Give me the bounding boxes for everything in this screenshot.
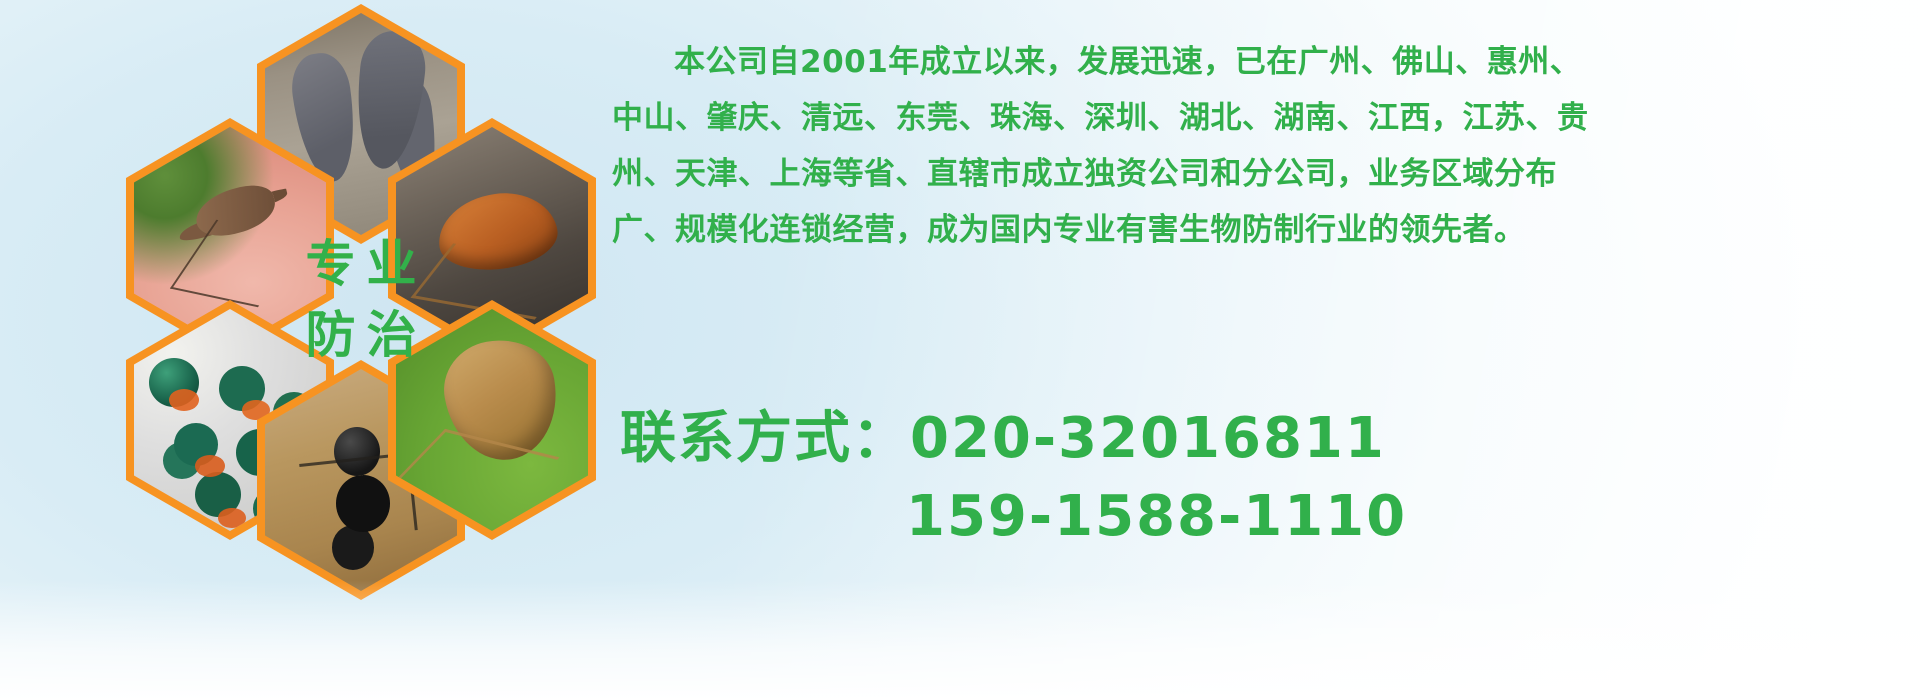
company-intro-paragraph: 本公司自2001年成立以来，发展迅速，已在广州、佛山、惠州、中山、肇庆、清远、东…: [612, 34, 1612, 258]
contact-block: 联系方式：020-32016811 159-1588-1110: [620, 400, 1620, 556]
contact-phone-landline[interactable]: 联系方式：020-32016811: [620, 400, 1620, 478]
hexagon-photo-cluster: 专业 防治: [88, 0, 588, 560]
intro-copy-block: 本公司自2001年成立以来，发展迅速，已在广州、佛山、惠州、中山、肇庆、清远、东…: [612, 34, 1612, 258]
slogan-line-2: 防治: [295, 300, 428, 371]
bottom-fade-overlay: [0, 580, 1920, 700]
pest-control-banner: 专业 防治 本公司自2001年成立以来，发展迅速，已在广州、佛山、惠州、中山、肇…: [0, 0, 1920, 700]
contact-phone-mobile[interactable]: 159-1588-1110: [620, 478, 1620, 556]
slogan-line-1: 专业: [295, 229, 428, 300]
